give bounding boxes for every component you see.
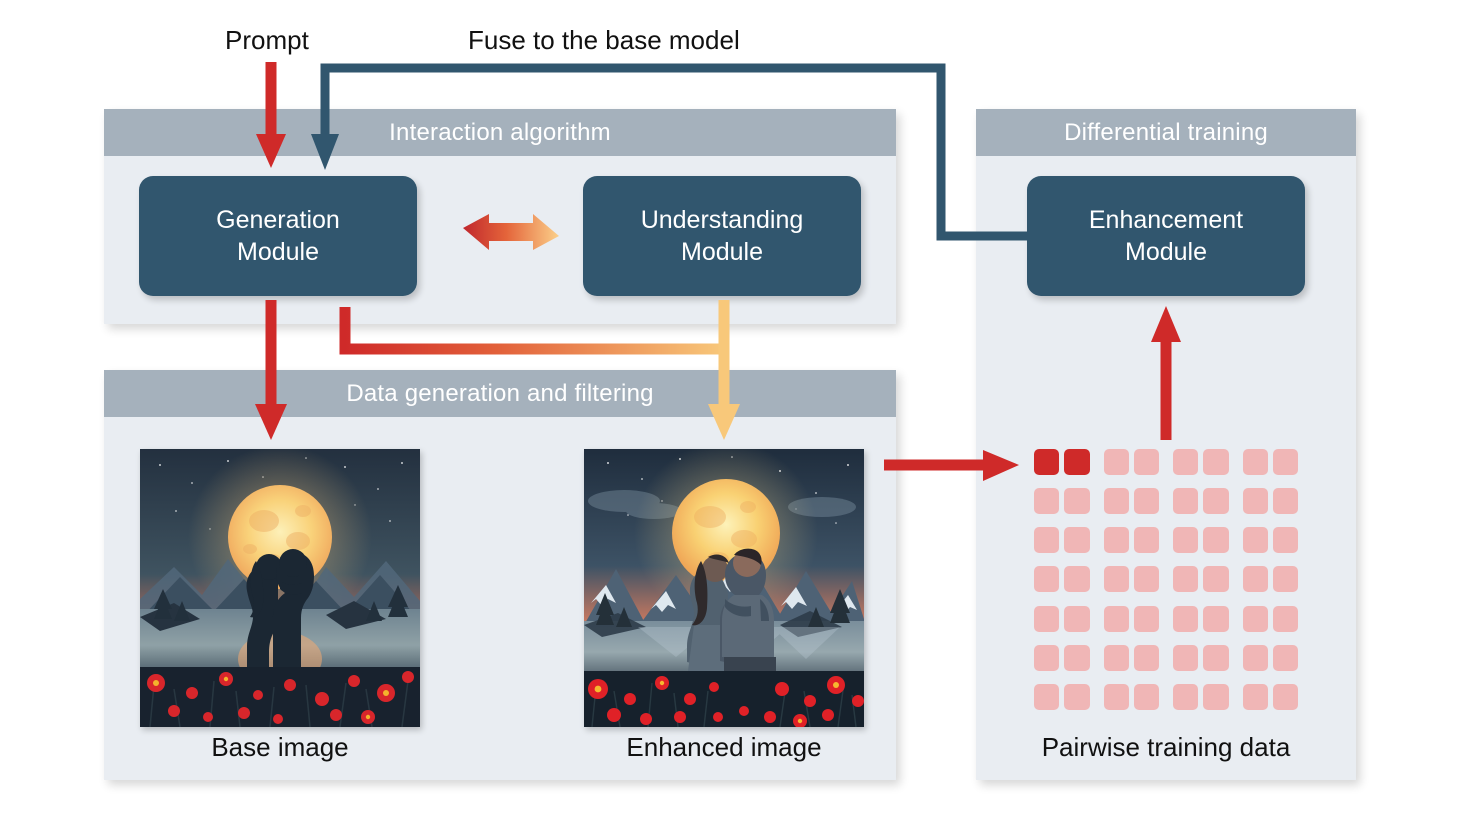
pairwise-pair[interactable] [1034,684,1090,715]
pairwise-chip [1203,527,1228,553]
pairwise-chip [1243,449,1268,475]
pairwise-pair[interactable] [1173,606,1229,637]
pairwise-chip [1243,606,1268,632]
module-understanding[interactable]: Understanding Module [583,176,861,296]
pairwise-row [1034,645,1298,676]
panel-header-label: Differential training [1064,119,1268,147]
panel-header-differential-training: Differential training [976,109,1356,156]
diagram-canvas: Interaction algorithm Data generation an… [0,0,1476,825]
pairwise-pair[interactable] [1243,684,1299,715]
pairwise-row [1034,566,1298,597]
pairwise-chip [1173,645,1198,671]
module-label-line2: Module [1125,236,1207,268]
module-enhancement[interactable]: Enhancement Module [1027,176,1305,296]
pairwise-chip [1134,488,1159,514]
pairwise-chip-highlighted [1034,449,1059,475]
pairwise-row [1034,449,1298,480]
pairwise-pair[interactable] [1034,488,1090,519]
pairwise-chip [1034,527,1059,553]
pairwise-chip [1064,527,1089,553]
pairwise-chip [1243,527,1268,553]
pairwise-chip [1064,684,1089,710]
module-label-line1: Enhancement [1089,204,1243,236]
pairwise-pair[interactable] [1034,566,1090,597]
label-prompt: Prompt [225,25,309,56]
pairwise-chip [1104,449,1129,475]
pairwise-chip [1173,684,1198,710]
pairwise-chip [1064,488,1089,514]
pairwise-chip [1273,606,1298,632]
pairwise-pair[interactable] [1243,606,1299,637]
pairwise-pair[interactable] [1104,449,1160,480]
pairwise-chip [1104,566,1129,592]
module-label-line1: Generation [216,204,340,236]
pairwise-pair[interactable] [1104,566,1160,597]
pairwise-pair[interactable] [1034,645,1090,676]
pairwise-chip [1203,449,1228,475]
pairwise-pair[interactable] [1173,449,1229,480]
pairwise-pair[interactable] [1104,606,1160,637]
pairwise-chip [1203,566,1228,592]
label-fuse-to-base-model: Fuse to the base model [468,25,740,56]
pairwise-pair[interactable] [1173,566,1229,597]
pairwise-pair[interactable] [1104,488,1160,519]
pairwise-chip [1104,488,1129,514]
base-image-artwork [140,449,420,727]
pairwise-chip [1064,566,1089,592]
panel-header-interaction-algorithm: Interaction algorithm [104,109,896,156]
pairwise-chip [1134,566,1159,592]
pairwise-chip [1243,488,1268,514]
pairwise-chip [1273,527,1298,553]
pairwise-chip [1134,527,1159,553]
pairwise-chip [1173,606,1198,632]
pairwise-pair[interactable] [1243,449,1299,480]
pairwise-pair[interactable] [1243,488,1299,519]
pairwise-chip [1064,606,1089,632]
pairwise-chip [1173,566,1198,592]
pairwise-chip [1034,606,1059,632]
pairwise-pair[interactable] [1034,527,1090,558]
pairwise-pair[interactable] [1243,645,1299,676]
pairwise-chip [1034,566,1059,592]
pairwise-chip [1243,684,1268,710]
pairwise-chip [1243,566,1268,592]
module-label-line1: Understanding [641,204,804,236]
pairwise-chip [1173,527,1198,553]
module-label-line2: Module [681,236,763,268]
pairwise-chip [1273,645,1298,671]
pairwise-chip [1273,684,1298,710]
module-generation[interactable]: Generation Module [139,176,417,296]
pairwise-chip [1203,684,1228,710]
pairwise-row [1034,527,1298,558]
pairwise-training-data-grid [1034,449,1298,715]
pairwise-pair[interactable] [1034,449,1090,480]
pairwise-chip [1134,449,1159,475]
panel-header-label: Data generation and filtering [346,380,653,408]
pairwise-chip [1203,488,1228,514]
pairwise-chip [1134,645,1159,671]
pairwise-chip [1243,645,1268,671]
panel-header-data-generation: Data generation and filtering [104,370,896,417]
pairwise-chip [1104,606,1129,632]
pairwise-chip [1104,684,1129,710]
pairwise-chip [1273,488,1298,514]
pairwise-chip [1134,684,1159,710]
pairwise-chip [1203,606,1228,632]
pairwise-row [1034,606,1298,637]
pairwise-pair[interactable] [1104,527,1160,558]
pairwise-chip [1034,645,1059,671]
pairwise-chip [1173,449,1198,475]
pairwise-chip-highlighted [1064,449,1089,475]
pairwise-chip [1034,684,1059,710]
pairwise-chip [1273,566,1298,592]
pairwise-pair[interactable] [1243,566,1299,597]
panel-header-label: Interaction algorithm [389,119,611,147]
pairwise-pair[interactable] [1173,645,1229,676]
pairwise-pair[interactable] [1034,606,1090,637]
caption-base-image: Base image [140,732,420,763]
pairwise-row [1034,684,1298,715]
pairwise-pair[interactable] [1104,684,1160,715]
module-label-line2: Module [237,236,319,268]
pairwise-pair[interactable] [1173,527,1229,558]
pairwise-pair[interactable] [1173,684,1229,715]
pairwise-chip [1104,527,1129,553]
caption-pairwise-training-data: Pairwise training data [976,732,1356,763]
pairwise-chip [1064,645,1089,671]
pairwise-row [1034,488,1298,519]
pairwise-chip [1104,645,1129,671]
pairwise-chip [1173,488,1198,514]
pairwise-chip [1134,606,1159,632]
pairwise-chip [1273,449,1298,475]
caption-enhanced-image: Enhanced image [584,732,864,763]
pairwise-chip [1034,488,1059,514]
pairwise-pair[interactable] [1173,488,1229,519]
pairwise-pair[interactable] [1104,645,1160,676]
enhanced-image-artwork [584,449,864,727]
pairwise-pair[interactable] [1243,527,1299,558]
pairwise-chip [1203,645,1228,671]
